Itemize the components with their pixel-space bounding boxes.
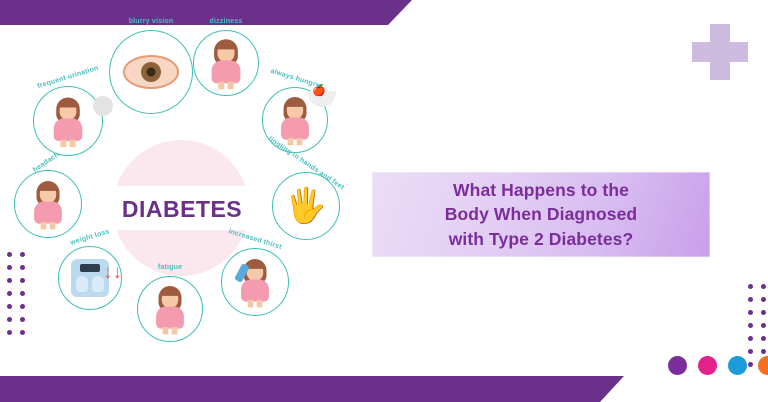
center-label: DIABETES: [106, 194, 258, 224]
symptom-blurry-vision[interactable]: blurry vision: [109, 30, 193, 114]
headache-woman-icon: [14, 170, 82, 238]
color-dot-purple: [668, 356, 687, 375]
page-title: What Happens to the Body When Diagnosed …: [435, 178, 647, 250]
tired-woman-icon: [137, 276, 203, 342]
headline-panel: What Happens to the Body When Diagnosed …: [372, 172, 710, 257]
down-arrow-icon: ↓↓: [103, 265, 122, 280]
symptom-dizziness[interactable]: dizziness: [193, 30, 259, 96]
headline-line-2: Body When Diagnosed: [445, 204, 637, 224]
symptom-increased-thirst[interactable]: increased thirst: [221, 248, 289, 316]
headline-line-3: with Type 2 Diabetes?: [449, 229, 634, 249]
urination-woman-icon: [33, 86, 103, 156]
eye-icon: [109, 30, 193, 114]
symptom-wheel: DIABETES blurry vision dizziness: [6, 18, 358, 386]
weight-scale-icon: ↓↓: [58, 246, 122, 310]
symptom-label: dizziness: [210, 18, 243, 25]
symptom-frequent-urination[interactable]: frequent urination: [33, 86, 103, 156]
color-dot-pink: [698, 356, 717, 375]
symptom-headache[interactable]: headache: [14, 170, 82, 238]
color-dot-blue: [728, 356, 747, 375]
plus-cross-icon: [692, 24, 748, 80]
symptom-label: blurry vision: [129, 18, 174, 25]
drinking-woman-icon: [221, 248, 289, 316]
symptom-weight-loss[interactable]: ↓↓ weight loss: [58, 246, 122, 310]
right-dot-grid: [748, 284, 766, 367]
symptom-tingling[interactable]: 🖐 tingling in hands and feet: [272, 172, 340, 240]
symptom-label: fatigue: [158, 264, 182, 271]
color-dot-orange: [758, 356, 768, 375]
symptom-fatigue[interactable]: fatigue: [137, 276, 203, 342]
infographic-canvas: What Happens to the Body When Diagnosed …: [0, 0, 768, 402]
clock-icon: [93, 96, 113, 116]
dizzy-woman-icon: [193, 30, 259, 96]
headline-line-1: What Happens to the: [453, 180, 629, 200]
color-dot-row: [668, 356, 768, 375]
